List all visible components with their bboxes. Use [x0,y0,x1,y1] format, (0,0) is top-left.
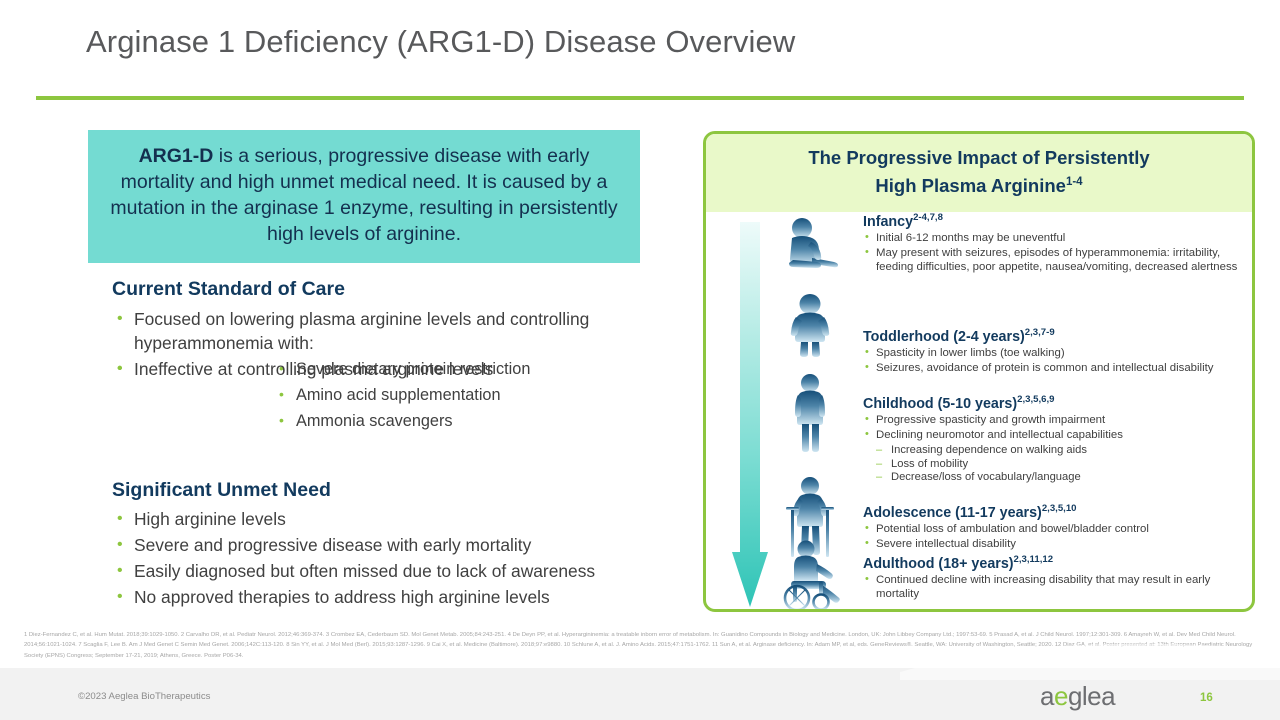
stage-title: Toddlerhood (2-4 years)2,3,7-9 [863,327,1238,345]
stage-text-infancy: Infancy2-4,7,8 Initial 6-12 months may b… [863,212,1238,276]
list-item: Amino acid supplementation [274,384,724,408]
list-item: Loss of mobility [876,458,1238,472]
title-divider [36,96,1244,100]
list-item: Spasticity in lower limbs (toe walking) [863,347,1238,361]
stage-bullets: Initial 6-12 months may be uneventful Ma… [863,232,1238,274]
panel-title-superscript: 1-4 [1066,176,1083,188]
list-item: Easily diagnosed but often missed due to… [112,560,652,584]
stage-title: Adulthood (18+ years)2,3,11,12 [863,554,1238,572]
copyright-text: ©2023 Aeglea BioTherapeutics [78,691,210,702]
list-item: Ammonia scavengers [274,410,724,434]
panel-body: Infancy2-4,7,8 Initial 6-12 months may b… [706,212,1252,612]
aeglea-logo: aeglea [1040,681,1115,712]
stage-bullets: Potential loss of ambulation and bowel/b… [863,523,1238,552]
summary-callout-lead: ARG1-D [139,145,214,167]
page-title: Arginase 1 Deficiency (ARG1-D) Disease O… [86,24,795,60]
list-item: Declining neuromotor and intellectual ca… [863,429,1238,443]
slide-root: Arginase 1 Deficiency (ARG1-D) Disease O… [0,0,1280,720]
list-item: Progressive spasticity and growth impair… [863,414,1238,428]
child-standing-figure-icon [786,374,834,458]
stage-bullets: Progressive spasticity and growth impair… [863,414,1238,443]
list-item: Severe intellectual disability [863,538,1238,552]
standard-of-care-heading: Current Standard of Care [112,278,345,301]
list-item: High arginine levels [112,508,652,532]
footer-swoosh-decoration [900,620,1280,680]
panel-title-line-1: The Progressive Impact of Persistently [808,147,1149,168]
adult-in-wheelchair-figure-icon [776,540,848,612]
stage-title: Infancy2-4,7,8 [863,212,1238,230]
panel-header: The Progressive Impact of Persistently H… [706,134,1252,212]
stage-title-superscript: 2,3,5,10 [1042,503,1077,514]
stage-title-label: Childhood (5-10 years) [863,396,1017,412]
page-number: 16 [1200,692,1213,704]
list-item: No approved therapies to address high ar… [112,586,652,610]
stage-text-adolescence: Adolescence (11-17 years)2,3,5,10 Potent… [863,503,1238,553]
stage-text-adulthood: Adulthood (18+ years)2,3,11,12 Continued… [863,554,1238,602]
stage-text-toddlerhood: Toddlerhood (2-4 years)2,3,7-9 Spasticit… [863,327,1238,377]
progressive-impact-panel: The Progressive Impact of Persistently H… [703,131,1255,612]
stage-text-childhood: Childhood (5-10 years)2,3,5,6,9 Progress… [863,394,1238,485]
list-item: Severe and progressive disease with earl… [112,534,652,558]
list-item: Focused on lowering plasma arginine leve… [112,308,632,355]
unmet-need-heading: Significant Unmet Need [112,479,331,502]
summary-callout-text: ARG1-D is a serious, progressive disease… [102,143,626,247]
logo-text-rest: glea [1068,681,1115,711]
list-item: Initial 6-12 months may be uneventful [863,232,1238,246]
stage-title-label: Adulthood (18+ years) [863,556,1014,572]
stage-title-superscript: 2,3,7-9 [1025,327,1055,338]
list-item: Increasing dependence on walking aids [876,444,1238,458]
list-item: May present with seizures, episodes of h… [863,247,1238,274]
toddler-standing-figure-icon [784,294,836,360]
panel-title-line-2: High Plasma Arginine [875,175,1066,196]
logo-letter-a: a [1040,681,1054,711]
stage-sub-bullets: Increasing dependence on walking aids Lo… [876,444,1238,485]
list-item: Decrease/loss of vocabulary/language [876,471,1238,485]
logo-letter-e: e [1054,681,1068,711]
unmet-need-list: High arginine levels Severe and progress… [112,508,652,612]
summary-callout: ARG1-D is a serious, progressive disease… [88,130,640,263]
stage-title-superscript: 2,3,5,6,9 [1017,394,1054,405]
stage-title-label: Infancy [863,214,913,230]
list-item: Seizures, avoidance of protein is common… [863,362,1238,376]
progression-arrow-icon [732,222,768,607]
stage-bullets: Continued decline with increasing disabi… [863,574,1238,601]
stage-title: Adolescence (11-17 years)2,3,5,10 [863,503,1238,521]
list-item: Continued decline with increasing disabi… [863,574,1238,601]
list-item: Potential loss of ambulation and bowel/b… [863,523,1238,537]
stage-title-label: Adolescence (11-17 years) [863,505,1042,521]
stage-title-superscript: 2,3,11,12 [1014,554,1053,565]
stage-title: Childhood (5-10 years)2,3,5,6,9 [863,394,1238,412]
stage-title-label: Toddlerhood (2-4 years) [863,329,1025,345]
stage-title-superscript: 2-4,7,8 [913,212,943,223]
standard-of-care-list: Focused on lowering plasma arginine leve… [112,308,632,384]
infant-sitting-figure-icon [778,218,840,270]
list-item: Ineffective at controlling plasma argini… [112,358,632,382]
stage-bullets: Spasticity in lower limbs (toe walking) … [863,347,1238,376]
